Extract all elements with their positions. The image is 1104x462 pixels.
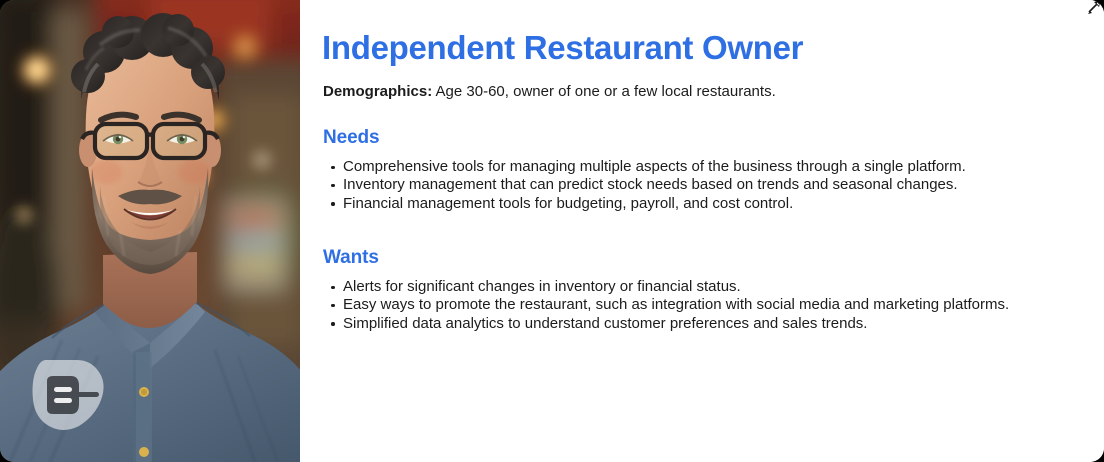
page-title: Independent Restaurant Owner [322, 29, 803, 67]
section-needs: Needs Comprehensive tools for managing m… [323, 127, 1023, 213]
persona-card: Independent Restaurant Owner Demographic… [0, 0, 1104, 462]
demographics-value: Age 30-60, owner of one or a few local r… [432, 83, 776, 100]
section-needs-heading: Needs [323, 127, 1023, 149]
needs-list: Comprehensive tools for managing multipl… [323, 158, 1023, 213]
persona-photo [0, 0, 300, 462]
demographics-label: Demographics: [323, 83, 432, 100]
demographics-line: Demographics: Age 30-60, owner of one or… [323, 83, 776, 100]
list-item: Alerts for significant changes in invent… [323, 278, 1023, 296]
list-item: Easy ways to promote the restaurant, suc… [323, 296, 1023, 314]
list-item: Inventory management that can predict st… [323, 176, 1023, 194]
list-item: Comprehensive tools for managing multipl… [323, 158, 1023, 176]
list-item: Simplified data analytics to understand … [323, 315, 1023, 333]
persona-content: Independent Restaurant Owner Demographic… [300, 0, 1104, 462]
list-item: Financial management tools for budgeting… [323, 195, 1023, 213]
section-wants-heading: Wants [323, 247, 1023, 269]
section-wants: Wants Alerts for significant changes in … [323, 247, 1023, 333]
wants-list: Alerts for significant changes in invent… [323, 278, 1023, 333]
